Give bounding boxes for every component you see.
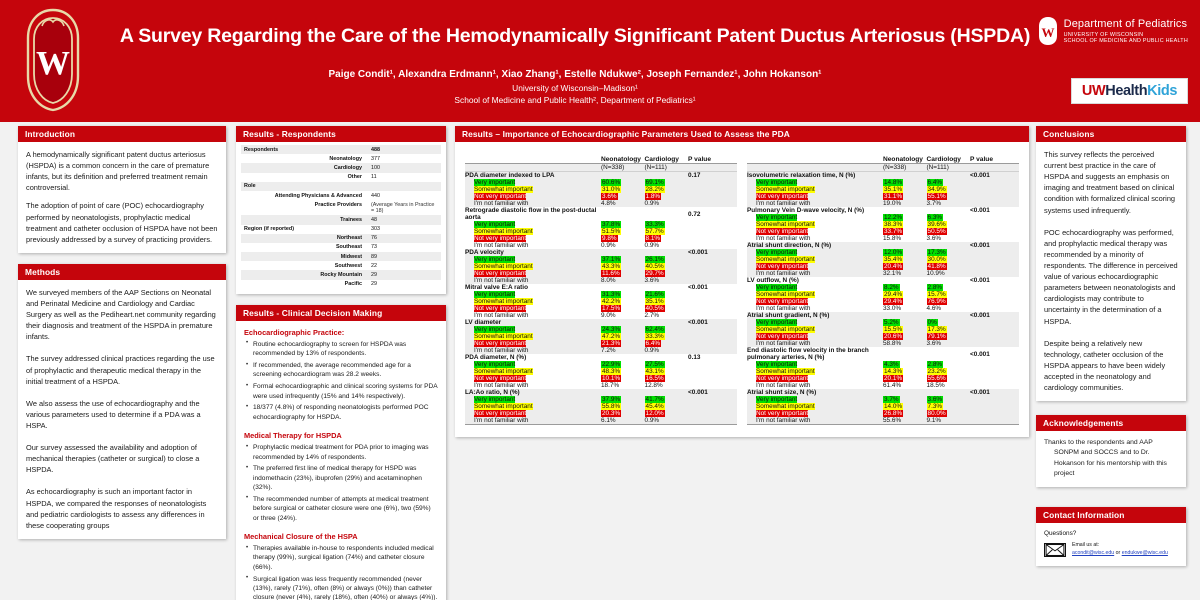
n-row-blank <box>747 164 883 172</box>
table-row: Midwest89 <box>241 252 441 261</box>
parameter-option-row: Very important60.6%69.1% <box>465 179 737 186</box>
option-label: Somewhat important <box>747 291 883 298</box>
uwhealth-kids-logo: UWHealthKids <box>1071 78 1188 104</box>
cardiology-value: 34.9% <box>927 186 971 193</box>
respondents-row-value: 29 <box>365 270 441 279</box>
option-label: Very important <box>747 249 883 256</box>
cardiology-value: 0.9% <box>645 200 689 207</box>
poster-affiliation: University of Wisconsin–Madison¹ School … <box>110 82 1040 106</box>
option-label: Not very important <box>465 235 601 242</box>
parameter-group-row: LV outflow, N (%)<0.001 <box>747 277 1019 284</box>
spacer-cell <box>645 319 689 326</box>
clinical-decision-heading: Results - Clinical Decision Making <box>236 305 446 321</box>
option-label: Very important <box>465 361 601 368</box>
echo-parameters-table-right: Neonatology Cardiology P value (N=338)(N… <box>747 156 1019 425</box>
cardiology-value: 6.3% <box>927 214 971 221</box>
p-value-spacer <box>688 221 737 228</box>
contact-email-link-2[interactable]: endukwe@wisc.edu <box>1122 550 1168 556</box>
p-value-spacer <box>688 305 737 312</box>
acknowledgements-body: Thanks to the respondents and AAP SONPM … <box>1036 431 1186 487</box>
cardiology-value: 0% <box>927 319 971 326</box>
p-value-spacer <box>970 179 1019 186</box>
parameter-option-row: Somewhat important14.3%23.2% <box>747 368 1019 375</box>
parameter-option-row: Not very important20.4%41.8% <box>747 263 1019 270</box>
methods-paragraph: The survey addressed clinical practices … <box>26 353 218 386</box>
option-label: I'm not familiar with <box>747 235 883 242</box>
parameter-option-row: Very important3.7%3.6% <box>747 396 1019 403</box>
cardiology-value: 23.2% <box>927 368 971 375</box>
p-value-spacer <box>688 193 737 200</box>
parameter-group-row: Atrial shunt size, N (%)<0.001 <box>747 389 1019 396</box>
neonatology-value: 15.5% <box>883 326 927 333</box>
p-value-spacer <box>970 305 1019 312</box>
parameter-option-row: Very important14.8%6.4% <box>747 179 1019 186</box>
clinical-decision-subtitle: Echocardiographic Practice: <box>244 328 438 337</box>
contact-email-text: Email us at: acondit@wisc.edu or endukwe… <box>1072 542 1168 558</box>
neonatology-value: 19.0% <box>883 200 927 207</box>
cardiology-value: 50.5% <box>927 228 971 235</box>
parameter-option-row: Not very important3.6%1.8% <box>465 193 737 200</box>
sample-size-row: (N=338)(N=111) <box>747 164 1019 172</box>
neonatology-value: 32.1% <box>883 270 927 277</box>
neonatology-value: 21.3% <box>601 340 645 347</box>
parameter-option-row: Very important4.3%2.8% <box>747 361 1019 368</box>
spacer-cell <box>645 207 689 221</box>
parameter-option-row: Somewhat important35.1%34.9% <box>747 186 1019 193</box>
option-label: Very important <box>747 361 883 368</box>
conclusions-body: This survey reflects the perceived curre… <box>1036 142 1186 401</box>
neonatology-value: 3.7% <box>883 396 927 403</box>
methods-paragraph: As echocardiography is such an important… <box>26 486 218 530</box>
n-cardiology: (N=111) <box>645 164 689 172</box>
p-value: <0.001 <box>688 389 737 396</box>
p-value-spacer <box>970 319 1019 326</box>
table-row: Southwest22 <box>241 261 441 270</box>
neonatology-value: 6.1% <box>601 417 645 425</box>
neonatology-value: 17.5% <box>601 305 645 312</box>
parameter-name: Pulmonary Vein D-wave velocity, N (%) <box>747 207 883 214</box>
option-label: Not very important <box>465 410 601 417</box>
methods-heading: Methods <box>18 264 226 280</box>
spacer-cell <box>883 242 927 249</box>
spacer-cell <box>645 172 689 180</box>
list-item: Surgical ligation was less frequently re… <box>244 575 438 600</box>
p-value: <0.001 <box>688 249 737 256</box>
option-label: Not very important <box>465 305 601 312</box>
column-right: Conclusions This survey reflects the per… <box>1036 126 1186 577</box>
n-neonatology: (N=338) <box>601 164 645 172</box>
parameter-option-row: Not very important11.6%29.7% <box>465 270 737 277</box>
respondents-row-value: 22 <box>365 261 441 270</box>
cardiology-value: 3.7% <box>927 200 971 207</box>
parameter-option-row: Very important37.1%26.1% <box>465 256 737 263</box>
clinical-decision-body: Echocardiographic Practice:Routine echoc… <box>236 321 446 600</box>
cardiology-value: 10.9% <box>927 270 971 277</box>
neonatology-value: 33.7% <box>883 228 927 235</box>
table-row: Cardiology100 <box>241 163 441 172</box>
neonatology-value: 48.3% <box>601 368 645 375</box>
p-value-spacer <box>688 326 737 333</box>
spacer-cell <box>883 312 927 319</box>
n-neonatology: (N=338) <box>883 164 927 172</box>
cardiology-value: 43.1% <box>645 368 689 375</box>
neonatology-value: 12.0% <box>883 249 927 256</box>
parameter-group-row: PDA diameter, N (%)0.13 <box>465 354 737 361</box>
cardiology-value: 17.3% <box>927 249 971 256</box>
option-label: Somewhat important <box>747 368 883 375</box>
p-value: 0.13 <box>688 354 737 361</box>
p-value-spacer <box>688 186 737 193</box>
cardiology-value: 3.6% <box>645 277 689 284</box>
contact-heading: Contact Information <box>1036 507 1186 523</box>
parameter-name: PDA velocity <box>465 249 601 256</box>
option-label: I'm not familiar with <box>465 417 601 425</box>
acknowledgements-text: Thanks to the respondents and AAP SONPM … <box>1044 438 1178 479</box>
parameter-group-row: LV diameter<0.001 <box>465 319 737 326</box>
list-item: Prophylactic medical treatment for PDA p… <box>244 443 438 462</box>
p-value-spacer <box>688 291 737 298</box>
p-value-spacer <box>688 410 737 417</box>
parameter-option-row: I'm not familiar with0.9%0.9% <box>465 242 737 249</box>
list-item: The recommended number of attempts at me… <box>244 495 438 523</box>
neonatology-value: 12.2% <box>883 214 927 221</box>
option-label: I'm not familiar with <box>465 382 601 389</box>
parameter-option-row: I'm not familiar with61.4%18.5% <box>747 382 1019 389</box>
cardiology-value: 28.2% <box>645 186 689 193</box>
option-label: I'm not familiar with <box>465 312 601 319</box>
neonatology-value: 61.4% <box>883 382 927 389</box>
parameter-name: LV outflow, N (%) <box>747 277 883 284</box>
table-row: Respondents488 <box>241 145 441 154</box>
respondents-row-label: Southeast <box>241 243 365 252</box>
results-table-body: Neonatology Cardiology P value (N=338)(N… <box>455 142 1029 437</box>
methods-body: We surveyed members of the AAP Sections … <box>18 280 226 539</box>
neonatology-value: 58.8% <box>883 340 927 347</box>
p-value-spacer <box>970 228 1019 235</box>
option-label: Somewhat important <box>465 263 601 270</box>
cardiology-value: 21.6% <box>645 291 689 298</box>
p-value-spacer <box>970 361 1019 368</box>
option-label: Somewhat important <box>465 333 601 340</box>
option-label: Very important <box>465 179 601 186</box>
clinical-decision-bullet-list: Routine echocardiography to screen for H… <box>244 340 438 422</box>
option-label: Somewhat important <box>747 186 883 193</box>
option-label: Not very important <box>465 340 601 347</box>
parameter-name: Mitral valve E:A ratio <box>465 284 601 291</box>
neonatology-value: 8.2% <box>883 284 927 291</box>
spacer-cell <box>601 354 645 361</box>
respondents-row-label: Role <box>241 182 365 191</box>
respondents-row-label: Cardiology <box>241 163 365 172</box>
uwhealth-kids-text: Kids <box>1147 83 1177 99</box>
parameter-option-row: Somewhat important14.0%7.3% <box>747 403 1019 410</box>
list-item: Routine echocardiography to screen for H… <box>244 340 438 359</box>
cardiology-value: 33.3% <box>645 221 689 228</box>
poster-title: A Survey Regarding the Care of the Hemod… <box>110 26 1040 47</box>
respondents-row-label: Trainees <box>241 215 365 224</box>
parameter-option-row: Somewhat important29.4%15.7% <box>747 291 1019 298</box>
option-label: Very important <box>465 326 601 333</box>
p-value-spacer <box>970 284 1019 291</box>
neonatology-value: 37.9% <box>601 396 645 403</box>
neonatology-value: 42.2% <box>601 298 645 305</box>
option-label: Somewhat important <box>465 228 601 235</box>
cardiology-value: 30.0% <box>927 256 971 263</box>
cardiology-value: 0.9% <box>645 347 689 354</box>
parameter-option-row: I'm not familiar with19.0%3.7% <box>747 200 1019 207</box>
spacer-cell <box>883 207 927 214</box>
respondents-row-label: Southwest <box>241 261 365 270</box>
p-value: <0.001 <box>970 312 1019 319</box>
neonatology-value: 10.1% <box>601 375 645 382</box>
cardiology-value: 3.6% <box>927 235 971 242</box>
table-row: Attending Physicians & Advanced440 <box>241 191 441 200</box>
option-label: I'm not familiar with <box>465 200 601 207</box>
parameter-name: Retrograde diastolic flow in the post-du… <box>465 207 601 221</box>
introduction-panel: Introduction A hemodynamically significa… <box>18 126 226 253</box>
table-row: Practice Providers(Average Years in Prac… <box>241 200 441 215</box>
p-value-spacer <box>688 368 737 375</box>
p-value-spacer <box>970 221 1019 228</box>
option-label: Not very important <box>747 333 883 340</box>
parameter-option-row: I'm not familiar with6.1%0.9% <box>465 417 737 425</box>
option-label: Somewhat important <box>747 403 883 410</box>
option-label: Not very important <box>747 193 883 200</box>
cardiology-value: 2.7% <box>645 312 689 319</box>
option-label: Not very important <box>465 375 601 382</box>
neonatology-value: 14.0% <box>883 403 927 410</box>
respondents-body: Respondents488Neonatology377Cardiology10… <box>236 142 446 294</box>
table-row: Pacific29 <box>241 280 441 289</box>
parameter-group-row: Pulmonary Vein D-wave velocity, N (%)<0.… <box>747 207 1019 214</box>
parameter-option-row: Not very important17.5%40.5% <box>465 305 737 312</box>
table-row: Trainees48 <box>241 215 441 224</box>
affiliation-line-1: University of Wisconsin–Madison¹ <box>110 82 1040 94</box>
introduction-paragraph: A hemodynamically significant patent duc… <box>26 149 218 193</box>
cardiology-value: 80.0% <box>927 410 971 417</box>
respondents-row-label: Other <box>241 173 365 182</box>
p-value-spacer <box>970 186 1019 193</box>
parameter-name: Atrial shunt direction, N (%) <box>747 242 883 249</box>
parameter-group-row: Mitral valve E:A ratio<0.001 <box>465 284 737 291</box>
p-value: <0.001 <box>970 389 1019 396</box>
p-value-spacer <box>970 298 1019 305</box>
p-value-spacer <box>688 312 737 319</box>
parameter-group-row: Atrial shunt direction, N (%)<0.001 <box>747 242 1019 249</box>
list-item: Formal echocardiographic and clinical sc… <box>244 382 438 401</box>
respondents-row-value: 488 <box>365 145 441 154</box>
parameter-option-row: I'm not familiar with4.8%0.9% <box>465 200 737 207</box>
spacer-cell <box>883 389 927 396</box>
column-results: Results – Importance of Echocardiographi… <box>455 126 1029 437</box>
contact-email-row: Email us at: acondit@wisc.edu or endukwe… <box>1044 542 1178 558</box>
department-logo: W Department of Pediatrics UNIVERSITY OF… <box>1037 16 1188 46</box>
p-value-spacer <box>688 361 737 368</box>
neonatology-value: 20.3% <box>601 410 645 417</box>
respondents-row-value: 48 <box>365 215 441 224</box>
cardiology-value: 55.1% <box>927 193 971 200</box>
spacer-cell <box>927 172 971 180</box>
spacer-cell <box>601 172 645 180</box>
neonatology-value: 38.3% <box>883 221 927 228</box>
poster-header: W A Survey Regarding the Care of the Hem… <box>0 0 1200 122</box>
col-header-cardiology: Cardiology <box>645 156 689 164</box>
neonatology-value: 35.1% <box>883 186 927 193</box>
parameter-option-row: Very important24.3%62.4% <box>465 326 737 333</box>
col-header-parameter <box>747 156 883 164</box>
option-label: Very important <box>465 256 601 263</box>
p-value-spacer <box>970 256 1019 263</box>
respondents-row-value: 11 <box>365 173 441 182</box>
parameter-name: Atrial shunt size, N (%) <box>747 389 883 396</box>
methods-panel: Methods We surveyed members of the AAP S… <box>18 264 226 539</box>
option-label: Very important <box>747 284 883 291</box>
contact-body: Questions? Email us at: acondit@wisc.edu… <box>1036 523 1186 566</box>
parameter-option-row: I'm not familiar with18.7%12.8% <box>465 382 737 389</box>
option-label: Very important <box>747 319 883 326</box>
neonatology-value: 31.1% <box>883 193 927 200</box>
column-second: Results - Respondents Respondents488Neon… <box>236 126 446 600</box>
dept-crest-icon: W <box>1037 16 1059 46</box>
parameter-option-row: Very important12.2%6.3% <box>747 214 1019 221</box>
methods-paragraph: Our survey assessed the availability and… <box>26 442 218 475</box>
cardiology-value: 55.6% <box>927 375 971 382</box>
parameter-option-row: Not very important29.4%76.9% <box>747 298 1019 305</box>
p-value-spacer <box>688 333 737 340</box>
spacer-cell <box>883 347 927 361</box>
neonatology-value: 60.6% <box>601 179 645 186</box>
cardiology-value: 1.8% <box>645 193 689 200</box>
neonatology-value: 22.9% <box>601 361 645 368</box>
spacer-cell <box>927 312 971 319</box>
p-value-spacer <box>970 368 1019 375</box>
p-value-spacer <box>688 382 737 389</box>
table-header-row: Neonatology Cardiology P value <box>465 156 737 164</box>
neonatology-value: 26.8% <box>883 410 927 417</box>
option-label: Very important <box>747 179 883 186</box>
poster-authors: Paige Condit¹, Alexandra Erdmann¹, Xiao … <box>110 68 1040 82</box>
respondents-row-label: Midwest <box>241 252 365 261</box>
p-value: <0.001 <box>688 319 737 326</box>
cardiology-value: 18.5% <box>927 382 971 389</box>
parameter-group-row: PDA diameter indexed to LPA0.17 <box>465 172 737 180</box>
cardiology-value: 0.9% <box>645 242 689 249</box>
clinical-decision-panel: Results - Clinical Decision Making Echoc… <box>236 305 446 600</box>
parameter-option-row: Very important37.9%41.7% <box>465 396 737 403</box>
sample-size-row: (N=338)(N=111) <box>465 164 737 172</box>
spacer-cell <box>927 242 971 249</box>
respondents-row-value: 76 <box>365 234 441 243</box>
parameter-option-row: Somewhat important35.4%30.0% <box>747 256 1019 263</box>
parameter-option-row: Somewhat important15.5%17.3% <box>747 326 1019 333</box>
option-label: Very important <box>747 396 883 403</box>
p-value-spacer <box>688 200 737 207</box>
respondents-row-value: 440 <box>365 191 441 200</box>
parameter-option-row: Very important31.3%21.6% <box>465 291 737 298</box>
introduction-paragraph: The adoption of point of care (POC) echo… <box>26 200 218 244</box>
p-value-spacer <box>970 396 1019 403</box>
introduction-heading: Introduction <box>18 126 226 142</box>
p-value-spacer <box>970 333 1019 340</box>
option-label: Very important <box>747 214 883 221</box>
spacer-cell <box>645 249 689 256</box>
parameter-option-row: Somewhat important55.8%45.4% <box>465 403 737 410</box>
option-label: I'm not familiar with <box>465 347 601 354</box>
neonatology-value: 20.1% <box>883 375 927 382</box>
p-value-spacer <box>688 277 737 284</box>
results-table-right-half: Neonatology Cardiology P value (N=338)(N… <box>747 156 1019 425</box>
p-value-spacer <box>688 417 737 425</box>
table-row: Role <box>241 182 441 191</box>
neonatology-value: 31.3% <box>601 291 645 298</box>
parameter-option-row: Not very important10.1%16.5% <box>465 375 737 382</box>
neonatology-value: 7.2% <box>601 347 645 354</box>
p-value-spacer <box>970 403 1019 410</box>
option-label: I'm not familiar with <box>747 305 883 312</box>
respondents-row-value: 89 <box>365 252 441 261</box>
p-value: 0.72 <box>688 207 737 221</box>
cardiology-value: 17.3% <box>927 326 971 333</box>
p-value-spacer <box>970 263 1019 270</box>
parameter-option-row: Somewhat important51.5%57.7% <box>465 228 737 235</box>
cardiology-value: 35.1% <box>645 298 689 305</box>
option-label: Somewhat important <box>465 186 601 193</box>
cardiology-value: 6.4% <box>927 179 971 186</box>
option-label: Somewhat important <box>747 256 883 263</box>
p-value: <0.001 <box>688 284 737 291</box>
option-label: I'm not familiar with <box>747 382 883 389</box>
option-label: Not very important <box>747 298 883 305</box>
neonatology-value: 31.0% <box>601 186 645 193</box>
cardiology-value: 41.7% <box>645 396 689 403</box>
spacer-cell <box>601 319 645 326</box>
parameter-option-row: I'm not familiar with32.1%10.9% <box>747 270 1019 277</box>
cardiology-value: 8.1% <box>645 235 689 242</box>
cardiology-value: 7.3% <box>927 403 971 410</box>
acknowledgements-heading: Acknowledgements <box>1036 415 1186 431</box>
p-value-spacer <box>970 340 1019 347</box>
parameter-option-row: Somewhat important31.0%28.2% <box>465 186 737 193</box>
cardiology-value: 29.7% <box>645 270 689 277</box>
contact-email-link-1[interactable]: acondit@wisc.edu <box>1072 550 1114 556</box>
p-value-spacer <box>970 270 1019 277</box>
contact-email-intro: Email us at: <box>1072 542 1168 550</box>
parameter-name: Atrial shunt gradient, N (%) <box>747 312 883 319</box>
p-value-spacer <box>688 340 737 347</box>
cardiology-value: 2.8% <box>927 284 971 291</box>
respondents-row-label: Rocky Mountain <box>241 270 365 279</box>
poster-body: Introduction A hemodynamically significa… <box>0 122 1200 600</box>
p-value: 0.17 <box>688 172 737 180</box>
neonatology-value: 14.3% <box>883 368 927 375</box>
cardiology-value: 69.1% <box>645 179 689 186</box>
table-row: Other11 <box>241 173 441 182</box>
neonatology-value: 9.0% <box>601 312 645 319</box>
col-header-pvalue: P value <box>688 156 737 164</box>
methods-paragraph: We surveyed members of the AAP Sections … <box>26 287 218 343</box>
option-label: Somewhat important <box>465 403 601 410</box>
results-table-heading: Results – Importance of Echocardiographi… <box>455 126 1029 142</box>
parameter-option-row: Not very important9.8%8.1% <box>465 235 737 242</box>
parameter-option-row: I'm not familiar with7.2%0.9% <box>465 347 737 354</box>
parameter-option-row: Very important37.8%33.3% <box>465 221 737 228</box>
echo-parameters-table-left: Neonatology Cardiology P value (N=338)(N… <box>465 156 737 425</box>
respondents-panel: Results - Respondents Respondents488Neon… <box>236 126 446 294</box>
parameter-option-row: I'm not familiar with33.0%4.6% <box>747 305 1019 312</box>
neonatology-value: 47.2% <box>601 333 645 340</box>
spacer-cell <box>927 277 971 284</box>
neonatology-value: 14.8% <box>883 179 927 186</box>
